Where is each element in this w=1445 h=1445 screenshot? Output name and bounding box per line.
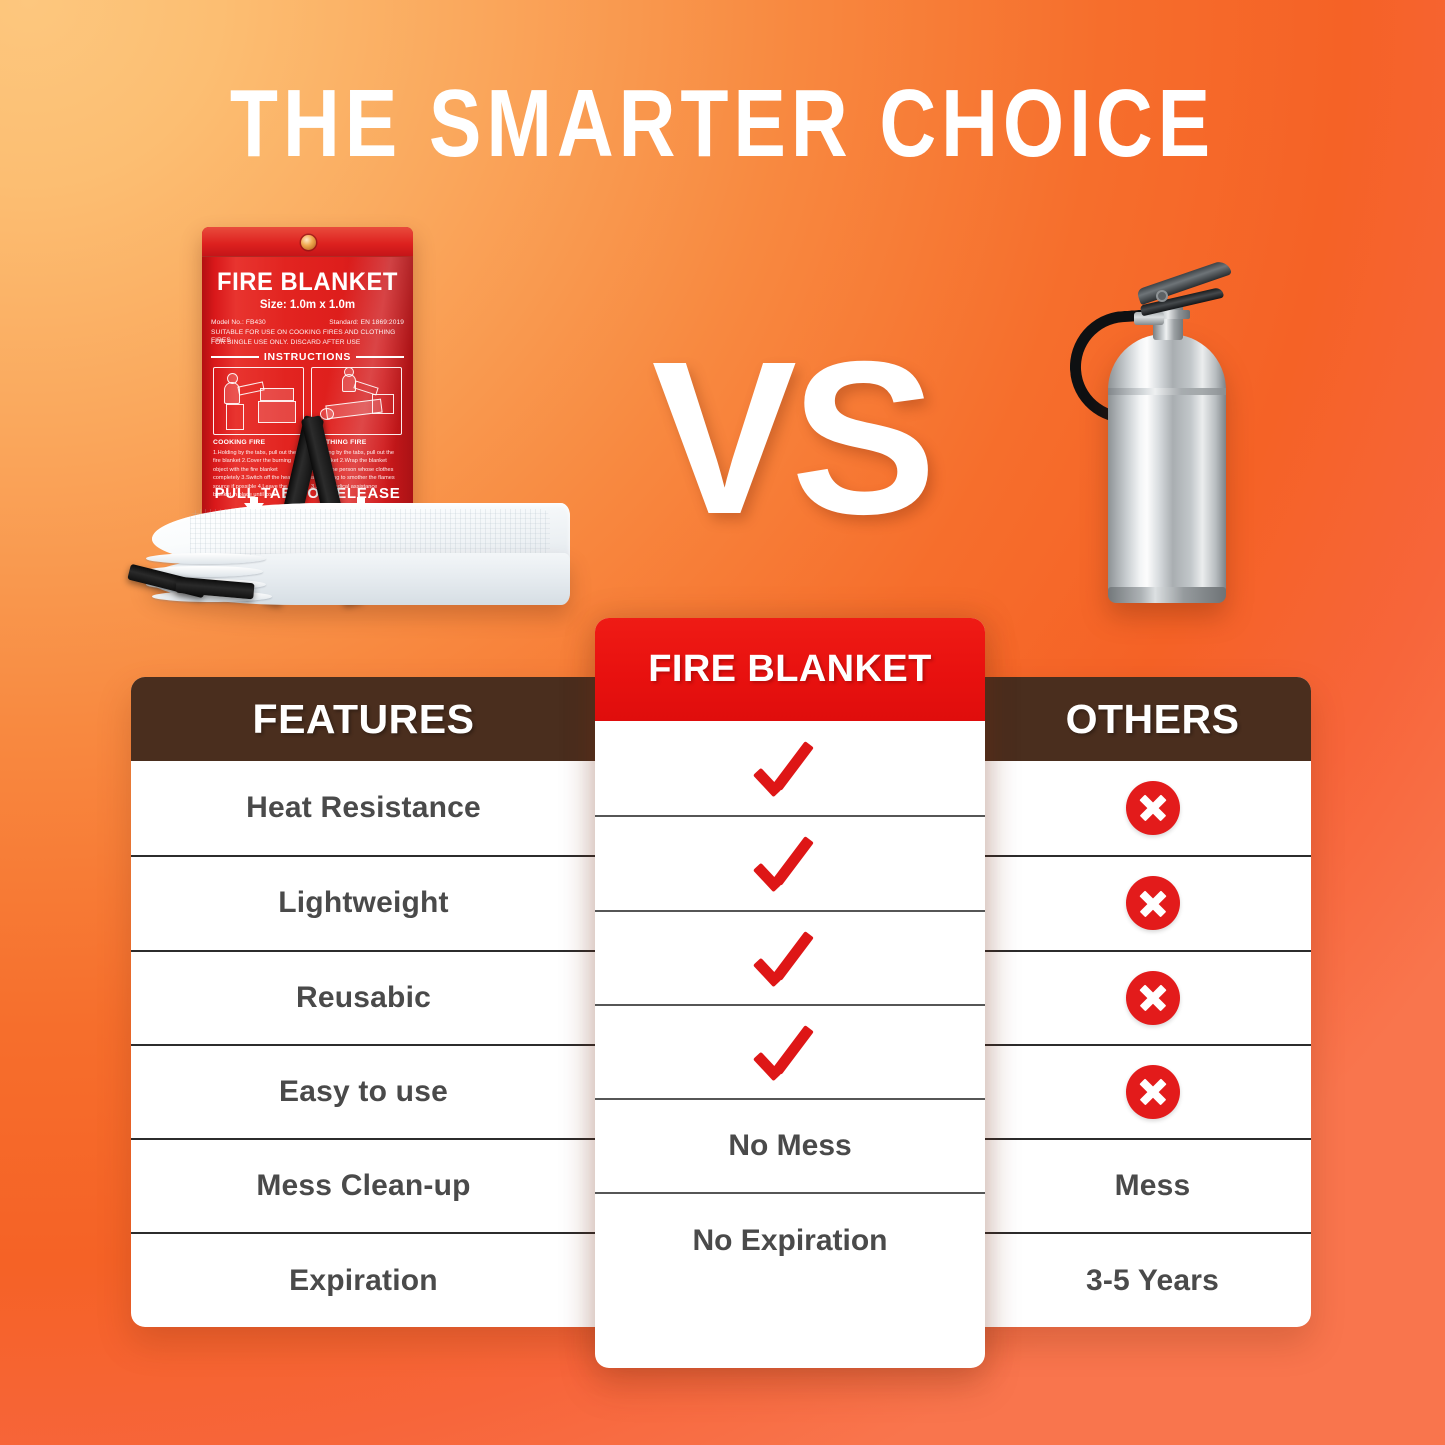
column-header-others: OTHERS	[994, 677, 1311, 761]
cross-icon	[1126, 876, 1180, 930]
others-value: Mess	[1115, 1169, 1191, 1203]
blanket-fold	[146, 553, 266, 564]
fire-blanket-row	[595, 815, 985, 909]
panel-caption-cooking: COOKING FIRE	[213, 439, 265, 446]
feature-name-cell: Lightweight	[131, 857, 596, 949]
fire-blanket-highlight-card: FIRE BLANKET No MessNo Expiration	[595, 618, 985, 1368]
others-cell: Mess	[994, 1140, 1311, 1232]
person-head-icon	[227, 373, 238, 384]
others-cell	[994, 857, 1311, 949]
instruction-panel-cooking-fire	[213, 367, 304, 435]
person-torso-icon	[224, 382, 240, 404]
feature-name-cell: Heat Resistance	[131, 761, 596, 855]
others-value: 3-5 Years	[1086, 1264, 1219, 1298]
fire-blanket-row	[595, 1004, 985, 1098]
instructions-rule-left	[211, 356, 259, 358]
extinguisher-base	[1108, 587, 1226, 603]
others-cell: 3-5 Years	[994, 1234, 1311, 1326]
pouch-title: FIRE BLANKET	[207, 268, 407, 297]
pouch-single-use-line: FOR SINGLE USE ONLY. DISCARD AFTER USE	[211, 339, 404, 347]
blanket-sheet-icon	[260, 388, 294, 401]
others-cell	[994, 1046, 1311, 1138]
pouch-size-line: Size: 1.0m x 1.0m	[202, 299, 413, 311]
extinguisher-cylinder	[1108, 334, 1226, 602]
fire-blanket-row	[595, 910, 985, 1004]
instructions-header: INSTRUCTIONS	[211, 351, 404, 363]
feature-name-cell: Reusabic	[131, 952, 596, 1044]
cross-icon	[1126, 781, 1180, 835]
fire-blanket-card-header: FIRE BLANKET	[595, 618, 985, 721]
cross-icon	[1126, 1065, 1180, 1119]
instructions-label: INSTRUCTIONS	[264, 351, 351, 363]
column-header-fire-blanket: FIRE BLANKET	[648, 648, 931, 691]
extinguisher-safety-pin-icon	[1156, 290, 1168, 302]
pouch-standard: Standard: EN 1869:2019	[329, 319, 404, 327]
grommet-icon	[301, 235, 316, 250]
feature-name-cell: Mess Clean-up	[131, 1140, 596, 1232]
feature-name-cell: Easy to use	[131, 1046, 596, 1138]
fire-extinguisher-image	[1060, 262, 1290, 607]
vs-label: VS	[621, 330, 961, 548]
others-cell	[994, 761, 1311, 855]
lying-head-icon	[320, 408, 334, 420]
fire-blanket-row: No Mess	[595, 1098, 985, 1192]
check-icon	[753, 1024, 827, 1080]
person-legs-icon	[226, 404, 244, 430]
pouch-model-standard-row: Model No.: FB430 Standard: EN 1869:2019	[211, 319, 404, 327]
fire-blanket-product-image: FIRE BLANKET Size: 1.0m x 1.0m Model No.…	[120, 215, 590, 655]
fire-blanket-row	[595, 721, 985, 815]
feature-name-cell: Expiration	[131, 1234, 596, 1326]
stove-icon	[258, 401, 296, 423]
fire-blanket-card-body: No MessNo Expiration	[595, 721, 985, 1287]
instructions-rule-right	[356, 356, 404, 358]
helper-head-icon	[344, 367, 354, 377]
fire-blanket-value: No Mess	[728, 1129, 851, 1163]
fire-blanket-row: No Expiration	[595, 1192, 985, 1286]
check-icon	[753, 835, 827, 891]
page-title: THE SMARTER CHOICE	[130, 72, 1315, 176]
check-icon	[753, 740, 827, 796]
cross-icon	[1126, 971, 1180, 1025]
flames-icon	[372, 394, 394, 414]
instruction-panel-clothing-fire	[311, 367, 402, 435]
fire-blanket-value: No Expiration	[692, 1224, 887, 1258]
column-header-features: FEATURES	[131, 677, 596, 761]
check-icon	[753, 930, 827, 986]
extinguisher-neck-band	[1108, 388, 1226, 395]
others-cell	[994, 952, 1311, 1044]
pouch-model-no: Model No.: FB430	[211, 319, 266, 327]
